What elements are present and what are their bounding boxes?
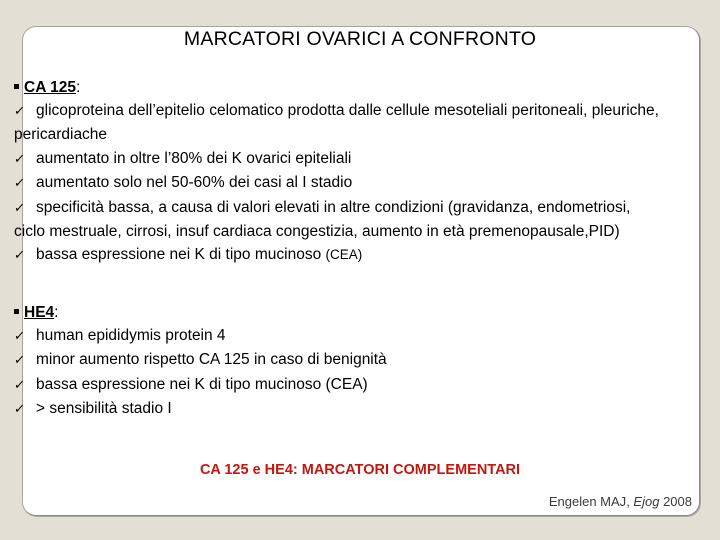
list-item: ✓bassa espressione nei K di tipo mucinos… — [14, 243, 664, 267]
square-bullet-icon — [14, 84, 19, 89]
list-item-label: > sensibilità stadio I — [36, 400, 172, 417]
list-item-label: human epididymis protein 4 — [36, 327, 226, 344]
section-heading-colon: : — [54, 304, 58, 321]
page-title: MARCATORI OVARICI A CONFRONTO — [0, 28, 720, 51]
list-item-label: bassa espressione nei K di tipo mucinoso… — [36, 376, 368, 393]
list-item: ✓specificità bassa, a causa di valori el… — [14, 196, 664, 244]
list-item: ✓> sensibilità stadio I — [14, 397, 664, 421]
checkmark-icon: ✓ — [13, 374, 38, 397]
list-item-label: specificità bassa, a causa di valori ele… — [14, 199, 630, 240]
section-he4: HE4: ✓human epididymis protein 4 ✓minor … — [14, 301, 664, 422]
section-heading-he4: HE4: — [14, 301, 664, 324]
section-heading-ca125: CA 125: — [14, 76, 664, 99]
checkmark-icon: ✓ — [13, 172, 38, 195]
square-bullet-icon — [14, 309, 19, 314]
list-item: ✓minor aumento rispetto CA 125 in caso d… — [14, 348, 664, 372]
citation-author: Engelen MAJ — [549, 494, 626, 509]
citation-year: 2008 — [659, 494, 692, 509]
section-heading-label: CA 125 — [24, 79, 76, 96]
citation: Engelen MAJ, Ejog 2008 — [549, 494, 692, 509]
checkmark-icon: ✓ — [13, 398, 38, 421]
checkmark-icon: ✓ — [13, 197, 38, 220]
slide-canvas: MARCATORI OVARICI A CONFRONTO CA 125: ✓g… — [0, 0, 720, 540]
checkmark-icon: ✓ — [13, 100, 38, 123]
list-item: ✓bassa espressione nei K di tipo mucinos… — [14, 373, 664, 397]
section-heading-colon: : — [76, 79, 80, 96]
section-heading-label: HE4 — [24, 304, 54, 321]
list-item-label: aumentato solo nel 50-60% dei casi al I … — [36, 174, 352, 191]
checkmark-icon: ✓ — [13, 349, 38, 372]
list-item: ✓aumentato solo nel 50-60% dei casi al I… — [14, 171, 664, 195]
list-item-label: bassa espressione nei K di tipo mucinoso — [36, 246, 326, 263]
list-item: ✓aumentato in oltre l’80% dei K ovarici … — [14, 147, 664, 171]
summary-statement: CA 125 e HE4: MARCATORI COMPLEMENTARI — [0, 462, 720, 478]
list-item-label: minor aumento rispetto CA 125 in caso di… — [36, 351, 387, 368]
checkmark-icon: ✓ — [13, 244, 38, 267]
list-item-label: glicoproteina dell’epitelio celomatico p… — [14, 102, 659, 143]
list-item-tag: (CEA) — [326, 247, 363, 262]
list-item-label: aumentato in oltre l’80% dei K ovarici e… — [36, 150, 351, 167]
citation-journal: Ejog — [633, 494, 659, 509]
section-divider-space — [14, 268, 664, 301]
slide-body: CA 125: ✓glicoproteina dell’epitelio cel… — [14, 76, 664, 421]
list-item: ✓glicoproteina dell’epitelio celomatico … — [14, 99, 664, 147]
checkmark-icon: ✓ — [13, 148, 38, 171]
section-ca125: CA 125: ✓glicoproteina dell’epitelio cel… — [14, 76, 664, 268]
list-item: ✓human epididymis protein 4 — [14, 324, 664, 348]
checkmark-icon: ✓ — [13, 325, 38, 348]
